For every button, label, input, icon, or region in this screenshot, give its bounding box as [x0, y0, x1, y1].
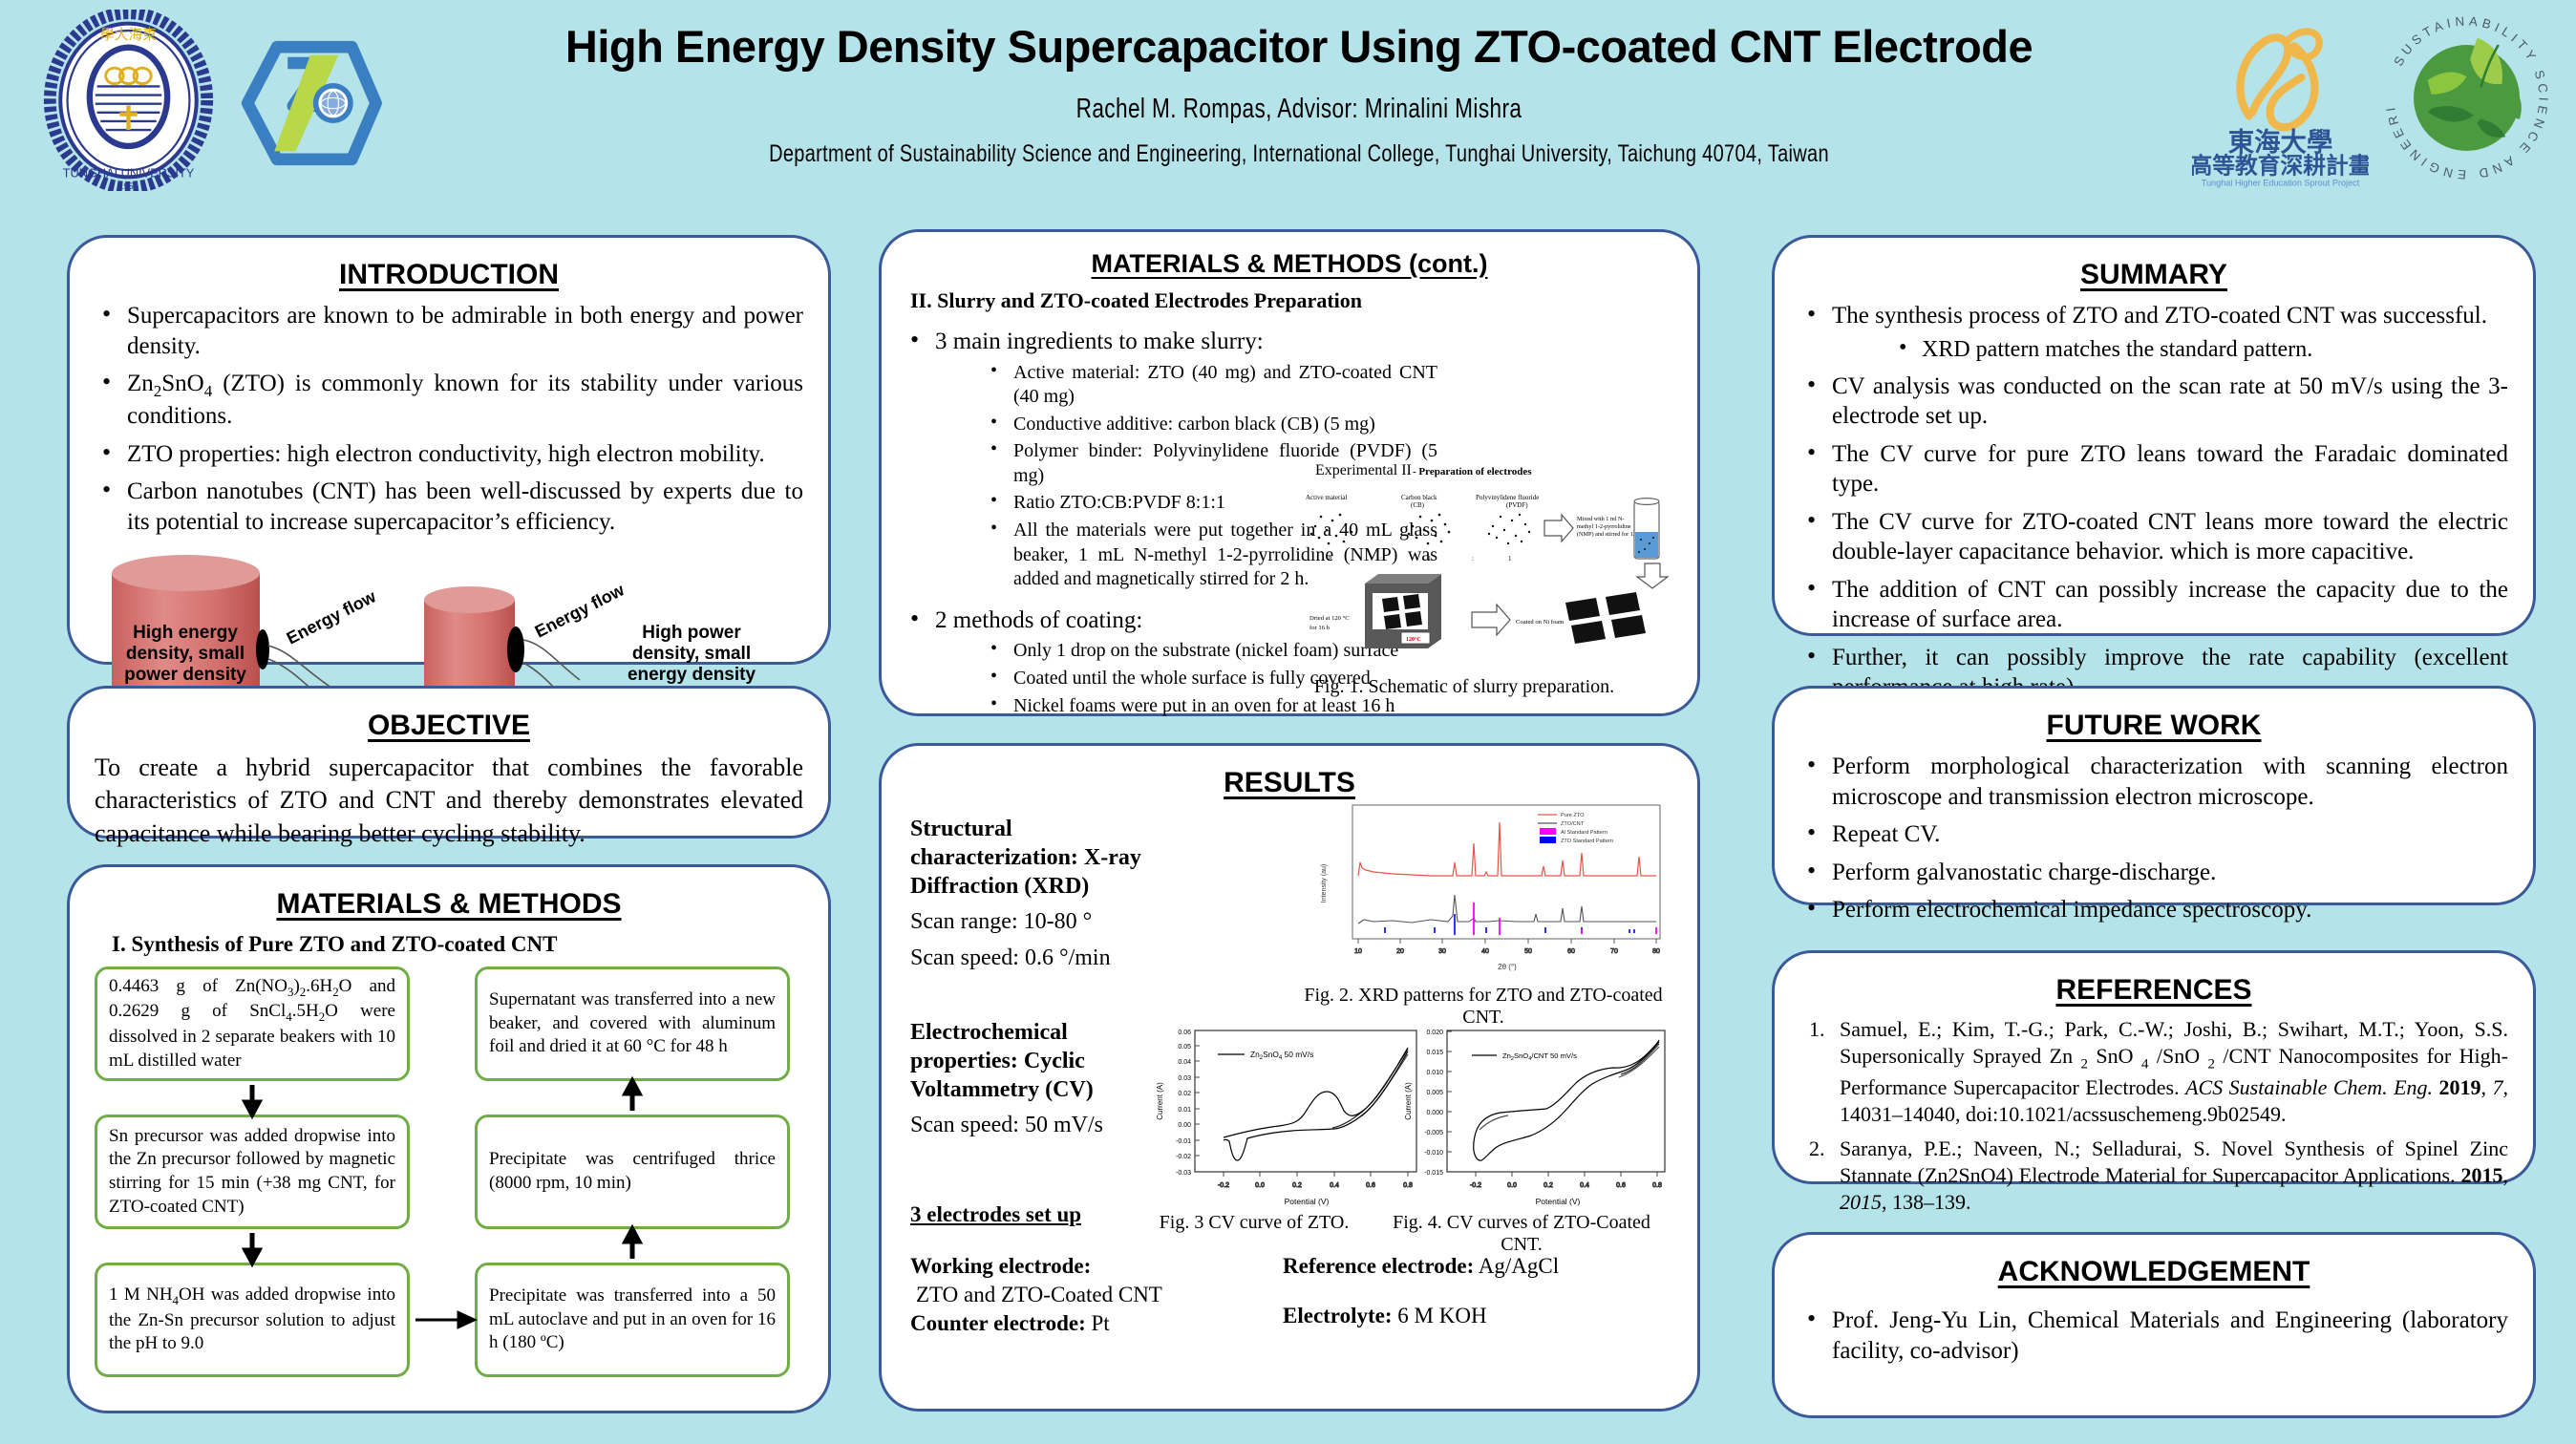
- poster-authors: Rachel M. Rompas, Advisor: Mrinalini Mis…: [613, 94, 1984, 125]
- svg-text:(NMP) and stirred for 12h: (NMP) and stirred for 12h: [1577, 531, 1640, 538]
- title-block: High Energy Density Supercapacitor Using…: [420, 8, 2178, 168]
- poster-canvas: 學大海東 TUNGHAI UNIVERSITY 1955 High Energy…: [0, 0, 2576, 1444]
- cv-scan-speed: Scan speed: 50 mV/s: [910, 1110, 1163, 1140]
- acknowledgement-panel: ACKNOWLEDGEMENT Prof. Jeng-Yu Lin, Chemi…: [1772, 1232, 2536, 1418]
- svg-text:ZTO/CNT: ZTO/CNT: [1561, 821, 1585, 827]
- list-item: Perform electrochemical impedance spectr…: [1799, 895, 2508, 925]
- materials-methods-cont-title: MATERIALS & METHODS (cont.): [903, 249, 1676, 279]
- tunghai-sprout-project-logo: 東海大學 高等教育深耕計畫 Tunghai Higher Education S…: [2192, 8, 2369, 189]
- svg-text:0.04: 0.04: [1178, 1059, 1191, 1066]
- list-item: Carbon nanotubes (CNT) has been well-dis…: [95, 477, 803, 537]
- page-title: High Energy Density Supercapacitor Using…: [420, 8, 2178, 73]
- svg-text:Dried at 120 °C: Dried at 120 °C: [1309, 615, 1350, 622]
- svg-text:0.02: 0.02: [1178, 1091, 1191, 1097]
- ratio-c: 1: [1508, 555, 1512, 563]
- svg-text:power density: power density: [124, 665, 246, 685]
- svg-text:(CB): (CB): [1411, 501, 1425, 509]
- svg-text:Mixed with 1 ml N-: Mixed with 1 ml N-: [1577, 516, 1625, 522]
- xrd-parameters: Structural characterization: X-ray Diffr…: [910, 815, 1168, 974]
- reference-electrode-label: Reference electrode:: [1283, 1254, 1474, 1278]
- svg-text:0.020: 0.020: [1426, 1030, 1443, 1036]
- svg-text:Polyvinylidene fluoride: Polyvinylidene fluoride: [1476, 494, 1539, 501]
- poster-header: 學大海東 TUNGHAI UNIVERSITY 1955 High Energy…: [0, 0, 2576, 208]
- svg-text:0.6: 0.6: [1366, 1182, 1375, 1189]
- objective-text: To create a hybrid supercapacitor that c…: [95, 752, 803, 850]
- objective-title: OBJECTIVE: [95, 710, 803, 742]
- electrolyte-value: 6 M KOH: [1397, 1304, 1486, 1327]
- materials-methods-cont-panel: MATERIALS & METHODS (cont.) II. Slurry a…: [879, 229, 1700, 716]
- tunghai-logo-year: 1955: [118, 181, 138, 191]
- svg-text:-0.01: -0.01: [1176, 1138, 1191, 1145]
- svg-text:40: 40: [1481, 948, 1489, 955]
- svg-text:0.4: 0.4: [1580, 1182, 1589, 1189]
- list-item: Zn2SnO4 (ZTO) is commonly known for its …: [95, 369, 803, 432]
- svg-text:ZTO Standard Pattern: ZTO Standard Pattern: [1561, 839, 1613, 844]
- ratio-a: 8: [1329, 555, 1332, 563]
- svg-text:-0.2: -0.2: [1218, 1182, 1229, 1189]
- svg-text:0.6: 0.6: [1616, 1182, 1626, 1189]
- ratio-b: 1: [1428, 555, 1432, 563]
- summary-title: SUMMARY: [1799, 259, 2508, 291]
- svg-text:Carbon black: Carbon black: [1401, 494, 1437, 501]
- cv-parameters: Electrochemical properties: Cyclic Volta…: [910, 1018, 1163, 1140]
- tunghai-logo-name: TUNGHAI UNIVERSITY: [63, 165, 195, 180]
- svg-text:energy density: energy density: [628, 665, 756, 685]
- svg-text:60: 60: [1567, 948, 1575, 955]
- results-panel: RESULTS Structural characterization: X-r…: [879, 743, 1700, 1412]
- methods-cont-subtitle: II. Slurry and ZTO-coated Electrodes Pre…: [910, 288, 1676, 313]
- list-item: ZTO properties: high electron conductivi…: [95, 439, 803, 470]
- svg-text:0.00: 0.00: [1178, 1122, 1191, 1129]
- list-item: The CV curve for ZTO-coated CNT leans mo…: [1799, 507, 2508, 567]
- svg-text:High power: High power: [642, 623, 741, 643]
- label-coated-ni-foam: Coated on Ni foam: [1516, 619, 1565, 626]
- electrode-setup-left: Working electrode: ZTO and ZTO-Coated CN…: [910, 1252, 1197, 1338]
- svg-text:0.0: 0.0: [1255, 1182, 1265, 1189]
- list-item: Conductive additive: carbon black (CB) (…: [985, 413, 1437, 437]
- svg-text:10: 10: [1354, 948, 1362, 955]
- svg-text:30: 30: [1438, 948, 1446, 955]
- svg-text:70: 70: [1610, 948, 1618, 955]
- synthesis-flowchart: 0.4463 g of Zn(NO3)2.6H2O and 0.2629 g o…: [95, 966, 806, 1396]
- svg-text:(PVDF): (PVDF): [1506, 501, 1528, 509]
- working-electrode-label: Working electrode:: [910, 1252, 1197, 1281]
- list-item: Active material: ZTO (40 mg) and ZTO-coa…: [985, 361, 1437, 410]
- acknowledgement-bullets: Prof. Jeng-Yu Lin, Chemical Materials an…: [1799, 1306, 2508, 1366]
- sse-department-logo: [234, 36, 387, 170]
- sprout-logo-en: Tunghai Higher Education Sprout Project: [2202, 178, 2360, 187]
- working-electrode-value: ZTO and ZTO-Coated CNT: [910, 1281, 1197, 1309]
- tunghai-university-logo: 學大海東 TUNGHAI UNIVERSITY 1955: [40, 10, 217, 191]
- summary-panel: SUMMARY The synthesis process of ZTO and…: [1772, 235, 2536, 636]
- xrd-scan-speed: Scan speed: 0.6 °/min: [910, 943, 1168, 973]
- cv-heading: Electrochemical properties: Cyclic Volta…: [910, 1018, 1163, 1104]
- svg-text:學大海東: 學大海東: [100, 26, 157, 43]
- electrolyte-label: Electrolyte:: [1283, 1304, 1393, 1327]
- poster-department: Department of Sustainability Science and…: [596, 140, 2002, 168]
- svg-text:Al Standard Pattern: Al Standard Pattern: [1561, 830, 1607, 836]
- svg-text:0.4: 0.4: [1330, 1182, 1339, 1189]
- sustainability-science-engineering-logo: SUSTAINABILITY SCIENCE AND ENGINEERING: [2378, 10, 2555, 186]
- references-title: REFERENCES: [1799, 974, 2508, 1007]
- svg-text:0.2: 0.2: [1292, 1182, 1302, 1189]
- svg-text:-0.03: -0.03: [1176, 1170, 1191, 1177]
- schematic-title-sub: - Preparation of electrodes: [1413, 466, 1532, 478]
- electrolyte-row: Electrolyte: 6 M KOH: [1283, 1302, 1617, 1330]
- svg-text:Pure ZTO: Pure ZTO: [1561, 813, 1585, 818]
- list-item: Perform morphological characterization w…: [1799, 752, 2508, 812]
- future-work-panel: FUTURE WORK Perform morphological charac…: [1772, 686, 2536, 905]
- fig3-cv-chart: Current (A) -0.03-0.02-0.01 0.000.010.02…: [1149, 1023, 1436, 1214]
- energy-flow-label-right: Energy flow: [532, 580, 628, 642]
- methods-subtitle: I. Synthesis of Pure ZTO and ZTO-coated …: [112, 932, 803, 957]
- references-panel: REFERENCES Samuel, E.; Kim, T.-G.; Park,…: [1772, 950, 2536, 1184]
- svg-text:Current (A): Current (A): [1156, 1082, 1164, 1120]
- sprout-logo-cn2: 高等教育深耕計畫: [2192, 153, 2369, 180]
- flowchart-arrows: [95, 966, 806, 1396]
- svg-text:High energy: High energy: [133, 623, 238, 643]
- introduction-title: INTRODUCTION: [95, 259, 803, 291]
- fig4-cv-chart: Current (A) -0.015-0.010-0.005 0.0000.00…: [1397, 1023, 1684, 1214]
- svg-text::: :: [1472, 555, 1474, 563]
- slurry-preparation-schematic: Experimental II - Preparation of electro…: [1298, 461, 1680, 662]
- svg-text:-0.010: -0.010: [1424, 1150, 1443, 1157]
- svg-text:-0.005: -0.005: [1424, 1130, 1443, 1136]
- electrode-setup-right: Reference electrode: Ag/AgCl Electrolyte…: [1283, 1252, 1617, 1330]
- reference-electrode-row: Reference electrode: Ag/AgCl: [1283, 1252, 1617, 1281]
- references-list: Samuel, E.; Kim, T.-G.; Park, C.-W.; Jos…: [1799, 1016, 2508, 1216]
- svg-text:0.03: 0.03: [1178, 1075, 1191, 1082]
- fig2-xrd-chart: Intensity (au): [1316, 801, 1670, 983]
- svg-text:Potential (V): Potential (V): [1536, 1197, 1581, 1206]
- svg-text:for 16 h: for 16 h: [1309, 625, 1331, 631]
- svg-text:Potential (V): Potential (V): [1285, 1197, 1330, 1206]
- summary-bullets: The synthesis process of ZTO and ZTO-coa…: [1799, 301, 2508, 703]
- list-item: XRD pattern matches the standard pattern…: [1893, 335, 2508, 364]
- schematic-title-main: Experimental II: [1315, 462, 1412, 478]
- future-work-bullets: Perform morphological characterization w…: [1799, 752, 2508, 925]
- svg-text:0.005: 0.005: [1426, 1090, 1443, 1096]
- introduction-bullets: Supercapacitors are known to be admirabl…: [95, 301, 803, 537]
- materials-methods-panel: MATERIALS & METHODS I. Synthesis of Pure…: [67, 864, 831, 1413]
- svg-text:density, small: density, small: [632, 644, 751, 664]
- svg-text:0.8: 0.8: [1652, 1182, 1662, 1189]
- materials-methods-title: MATERIALS & METHODS: [95, 888, 803, 921]
- electrode-setup-title: 3 electrodes set up: [910, 1202, 1081, 1227]
- svg-text:0.2: 0.2: [1543, 1182, 1553, 1189]
- xrd-scan-range: Scan range: 10-80 °: [910, 906, 1168, 937]
- figure-1-caption: Fig. 1. Schematic of slurry preparation.: [1264, 676, 1665, 698]
- svg-text:0.010: 0.010: [1426, 1070, 1443, 1076]
- svg-text:2θ (°): 2θ (°): [1498, 963, 1517, 971]
- objective-panel: OBJECTIVE To create a hybrid supercapaci…: [67, 686, 831, 839]
- svg-text:Current (A): Current (A): [1404, 1082, 1413, 1120]
- list-item: The CV curve for pure ZTO leans toward t…: [1799, 439, 2508, 499]
- list-item: Samuel, E.; Kim, T.-G.; Park, C.-W.; Jos…: [1799, 1016, 2508, 1128]
- list-item: Prof. Jeng-Yu Lin, Chemical Materials an…: [1799, 1306, 2508, 1366]
- results-title: RESULTS: [906, 767, 1672, 799]
- svg-text:methyl 1-2-pyrrolidine: methyl 1-2-pyrrolidine: [1577, 523, 1631, 530]
- svg-text:0.01: 0.01: [1178, 1107, 1191, 1114]
- energy-flow-label-left: Energy flow: [284, 586, 380, 648]
- list-item: The synthesis process of ZTO and ZTO-coa…: [1799, 301, 2508, 364]
- list-item: Saranya, P.E.; Naveen, N.; Selladurai, S…: [1799, 1136, 2508, 1216]
- counter-electrode-label: Counter electrode:: [910, 1311, 1086, 1335]
- list-item: CV analysis was conducted on the scan ra…: [1799, 372, 2508, 432]
- svg-text:0.015: 0.015: [1426, 1050, 1443, 1056]
- list-item: Perform galvanostatic charge-discharge.: [1799, 858, 2508, 888]
- figure-3-caption: Fig. 3 CV curve of ZTO.: [1130, 1212, 1378, 1234]
- electrode-setup-block: 3 electrodes set up: [910, 1202, 1081, 1227]
- svg-text:0.0: 0.0: [1507, 1182, 1517, 1189]
- svg-text:80: 80: [1652, 948, 1660, 955]
- svg-text:50: 50: [1524, 948, 1532, 955]
- svg-text:20: 20: [1396, 948, 1404, 955]
- introduction-panel: INTRODUCTION Supercapacitors are known t…: [67, 235, 831, 665]
- svg-text:0.06: 0.06: [1178, 1030, 1191, 1036]
- svg-text:0.000: 0.000: [1426, 1110, 1443, 1116]
- oven-temperature-display: 120°C: [1406, 636, 1421, 643]
- svg-text:0.05: 0.05: [1178, 1044, 1191, 1051]
- acknowledgement-title: ACKNOWLEDGEMENT: [1799, 1256, 2508, 1288]
- svg-text:-0.02: -0.02: [1176, 1154, 1191, 1160]
- list-item: Repeat CV.: [1799, 819, 2508, 850]
- figure-4-caption: Fig. 4. CV curves of ZTO-Coated CNT.: [1378, 1212, 1665, 1256]
- svg-text:-0.015: -0.015: [1424, 1170, 1443, 1177]
- counter-electrode-row: Counter electrode: Pt: [910, 1309, 1197, 1338]
- reference-electrode-value: Ag/AgCl: [1479, 1254, 1559, 1278]
- xrd-heading: Structural characterization: X-ray Diffr…: [910, 815, 1168, 901]
- list-item: The addition of CNT can possibly increas…: [1799, 575, 2508, 635]
- svg-text::: :: [1380, 555, 1382, 563]
- counter-electrode-value: Pt: [1091, 1311, 1109, 1335]
- list-item: Supercapacitors are known to be admirabl…: [95, 301, 803, 361]
- svg-text:Intensity (au): Intensity (au): [1321, 864, 1328, 902]
- svg-text:-0.2: -0.2: [1470, 1182, 1481, 1189]
- svg-text:density, small: density, small: [126, 644, 245, 664]
- label-active-material: Active material: [1306, 494, 1347, 501]
- future-work-title: FUTURE WORK: [1799, 710, 2508, 742]
